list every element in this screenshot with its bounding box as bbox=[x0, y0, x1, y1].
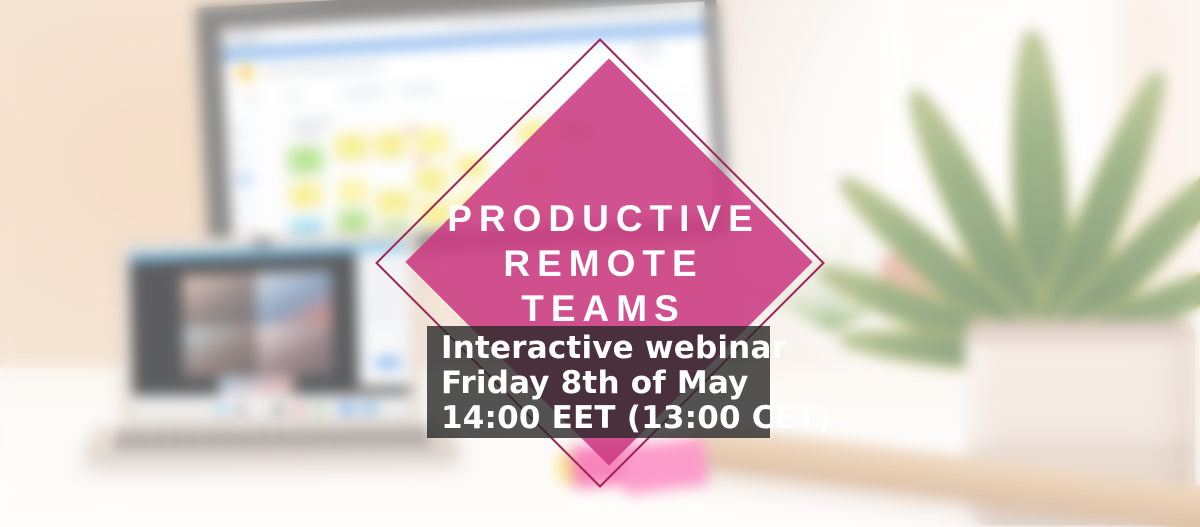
headline-line-1: PRODUCTIVE bbox=[0, 196, 1200, 241]
webinar-banner: PRODUCTIVE REMOTE TEAMS Interactive webi… bbox=[0, 0, 1200, 527]
event-date-label: Friday 8th of May bbox=[441, 366, 756, 401]
headline: PRODUCTIVE REMOTE TEAMS bbox=[0, 196, 1200, 331]
headline-line-2: REMOTE bbox=[0, 241, 1200, 286]
event-format-label: Interactive webinar bbox=[441, 331, 756, 366]
headline-line-3: TEAMS bbox=[0, 286, 1200, 331]
event-time-label: 14:00 EET (13:00 CET) bbox=[441, 401, 756, 436]
event-details-box: Interactive webinar Friday 8th of May 14… bbox=[427, 326, 770, 438]
